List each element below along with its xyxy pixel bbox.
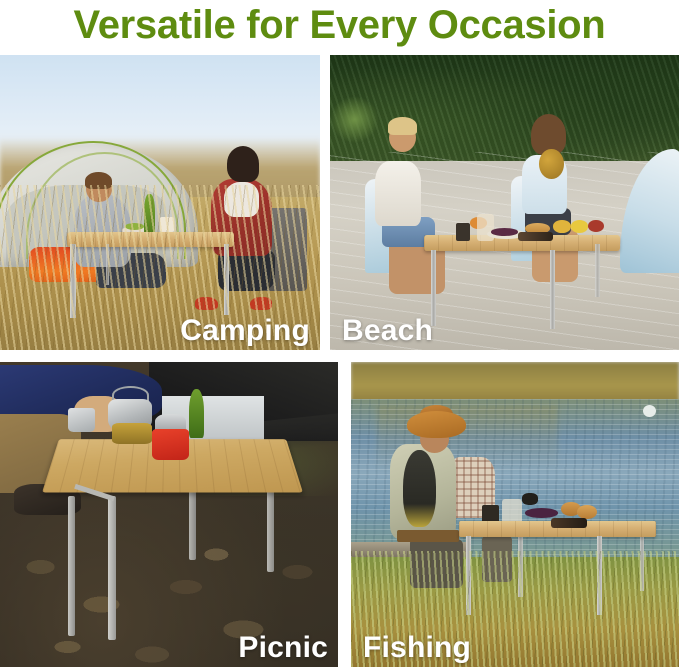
woman-hair: [227, 146, 259, 181]
coconut-drink: [539, 149, 563, 179]
panel-camping[interactable]: Camping: [0, 55, 320, 350]
beach-scene-image: [330, 55, 679, 350]
panel-picnic[interactable]: Picnic: [0, 362, 338, 667]
panel-grid: Camping: [0, 55, 679, 667]
citrus-fruit: [571, 220, 588, 232]
dark-mug: [456, 223, 470, 241]
citrus-fruit: [553, 220, 570, 232]
thermos: [551, 518, 587, 528]
thermos: [518, 232, 553, 241]
red-fuel-canister: [152, 429, 189, 460]
camp-stove: [112, 423, 153, 444]
page-title: Versatile for Every Occasion: [0, 0, 679, 52]
white-float: [643, 405, 656, 417]
vest-mesh-panel: [403, 450, 436, 526]
fishing-scene-image: [351, 362, 679, 667]
red-apple: [588, 220, 604, 232]
panel-caption-picnic: Picnic: [238, 631, 328, 665]
brown-leather-hat: [407, 411, 466, 438]
table-leg: [68, 496, 75, 636]
berries: [525, 508, 558, 517]
foliage-texture: [330, 55, 679, 161]
panel-caption-beach: Beach: [342, 314, 433, 348]
man-blond-hair: [388, 117, 418, 135]
panel-fishing[interactable]: Fishing: [351, 362, 679, 667]
table-leg: [108, 496, 116, 639]
table-leg: [189, 487, 196, 560]
belt: [397, 530, 459, 542]
man-white-tank-top: [375, 161, 420, 226]
berries: [491, 228, 519, 236]
table-leg: [267, 487, 274, 572]
picnic-scene-image: [0, 362, 338, 667]
table-leg: [595, 244, 600, 297]
steel-mug: [68, 408, 95, 432]
palm-fronds: [330, 96, 379, 143]
camping-scene-image: [0, 55, 320, 350]
panel-beach[interactable]: Beach: [330, 55, 679, 350]
green-bottle: [189, 389, 204, 438]
panel-caption-camping: Camping: [180, 314, 310, 348]
table-leg: [550, 250, 555, 330]
bottle-cap: [522, 493, 538, 505]
panel-caption-fishing: Fishing: [363, 631, 471, 665]
